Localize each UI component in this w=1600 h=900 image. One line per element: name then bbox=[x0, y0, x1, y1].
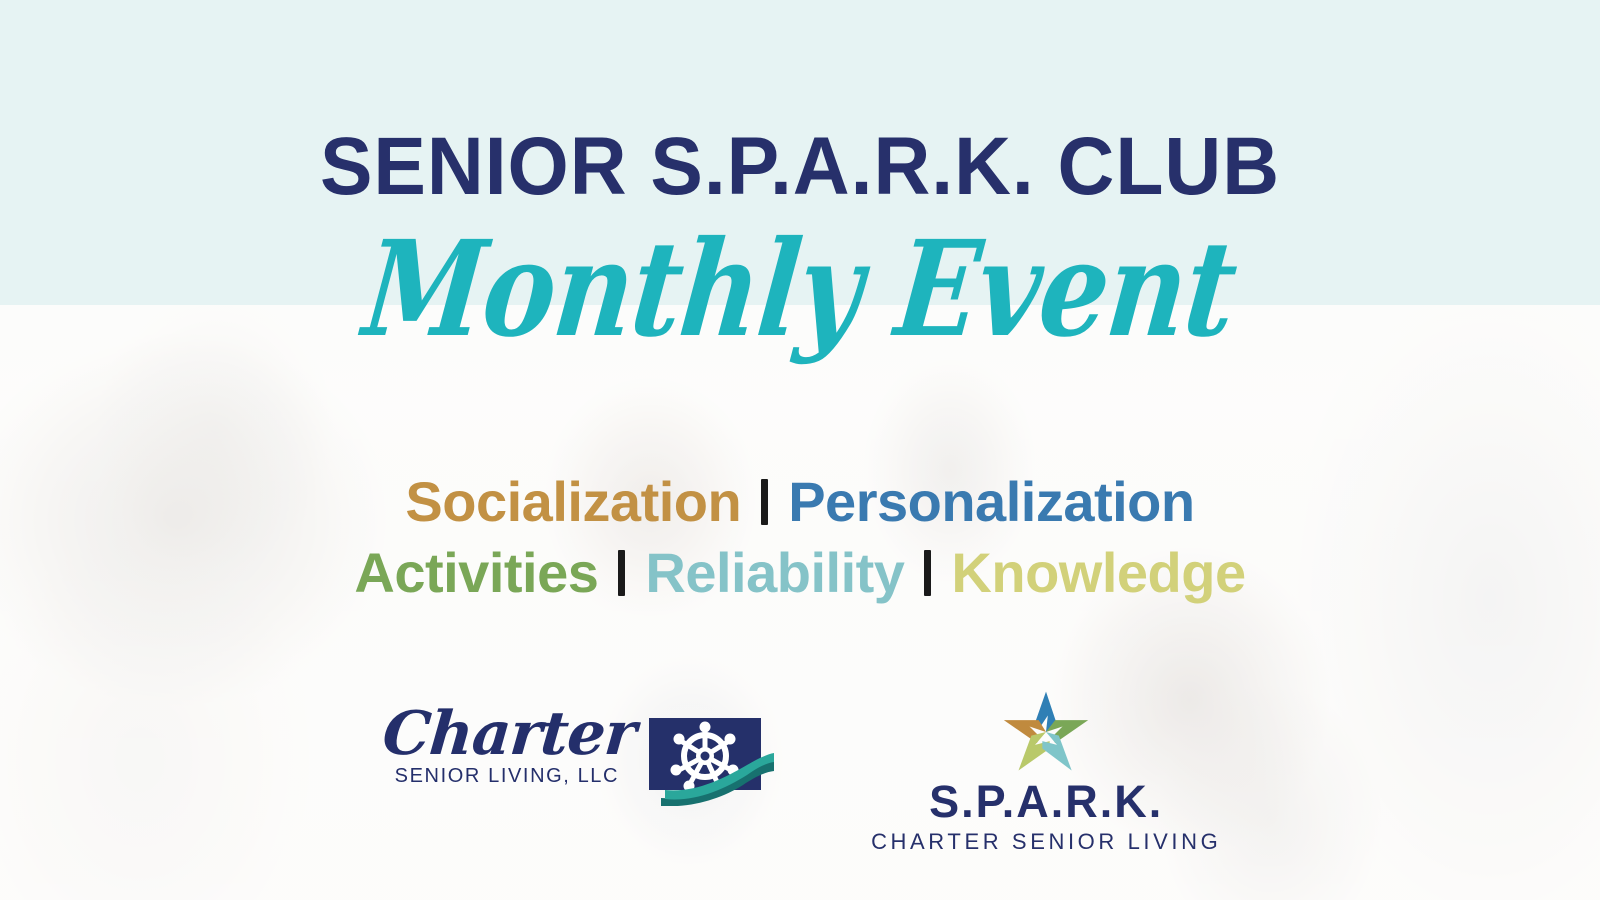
spark-value-reliability: Reliability bbox=[645, 543, 904, 602]
value-divider-icon bbox=[618, 550, 625, 596]
ships-wheel-wave-icon bbox=[647, 714, 775, 806]
value-divider-icon bbox=[924, 550, 931, 596]
spark-logo: S.P.A.R.K. CHARTER SENIOR LIVING bbox=[871, 688, 1221, 855]
charter-logo-text: Charter SENIOR LIVING, LLC bbox=[379, 706, 635, 788]
charter-senior-living-logo: Charter SENIOR LIVING, LLC bbox=[379, 688, 775, 806]
charter-wordmark: Charter bbox=[376, 706, 637, 763]
value-divider-icon bbox=[761, 479, 768, 525]
script-subtitle: Monthly Event bbox=[0, 202, 1600, 380]
logo-row: Charter SENIOR LIVING, LLC bbox=[0, 688, 1600, 855]
spark-value-knowledge: Knowledge bbox=[951, 543, 1245, 602]
spark-values-row-2: Activities Reliability Knowledge bbox=[0, 543, 1600, 602]
spark-value-socialization: Socialization bbox=[405, 472, 741, 531]
spark-value-activities: Activities bbox=[354, 543, 598, 602]
spark-values-row-1: Socialization Personalization bbox=[0, 472, 1600, 531]
spark-logo-subtitle: CHARTER SENIOR LIVING bbox=[871, 829, 1221, 855]
spark-value-personalization: Personalization bbox=[788, 472, 1194, 531]
spark-acronym: S.P.A.R.K. bbox=[871, 778, 1221, 825]
five-point-star-icon bbox=[1000, 688, 1092, 776]
spark-values-block: Socialization Personalization Activities… bbox=[0, 472, 1600, 603]
page-title: SENIOR S.P.A.R.K. CLUB bbox=[32, 126, 1568, 208]
poster-canvas: SENIOR S.P.A.R.K. CLUB Monthly Event Soc… bbox=[0, 0, 1600, 900]
